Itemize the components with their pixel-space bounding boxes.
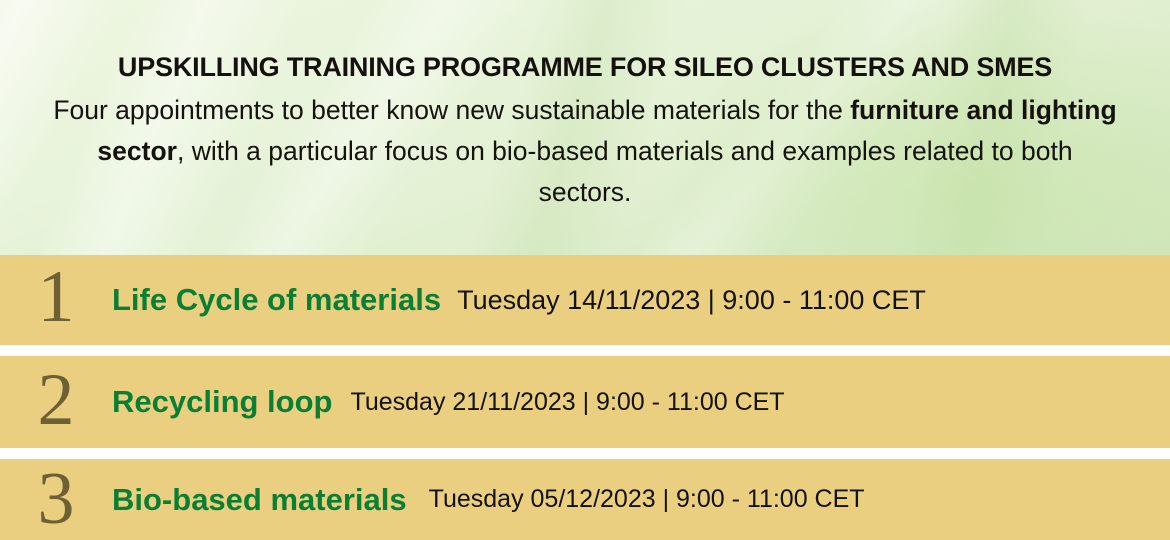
- poster-main-title: MATERIALS & SUSTAINABILITY: [0, 0, 1170, 9]
- poster-description: Four appointments to better know new sus…: [50, 90, 1120, 213]
- session-datetime: Tuesday 21/11/2023 | 9:00 - 11:00 CET: [350, 388, 784, 417]
- session-row[interactable]: 1 Life Cycle of materials Tuesday 14/11/…: [0, 255, 1170, 345]
- session-topic: Recycling loop: [112, 384, 332, 420]
- description-part-1: Four appointments to better know new sus…: [53, 95, 850, 125]
- session-datetime: Tuesday 05/12/2023 | 9:00 - 11:00 CET: [429, 485, 865, 514]
- band-divider: [0, 345, 1170, 356]
- poster-subtitle: UPSKILLING TRAINING PROGRAMME FOR SILEO …: [0, 52, 1170, 83]
- session-datetime: Tuesday 14/11/2023 | 9:00 - 11:00 CET: [457, 285, 926, 316]
- poster-canvas: MATERIALS & SUSTAINABILITY UPSKILLING TR…: [0, 0, 1170, 540]
- session-number: 1: [0, 260, 112, 340]
- description-part-2: , with a particular focus on bio-based m…: [177, 136, 1073, 207]
- session-topic: Bio-based materials: [112, 482, 407, 518]
- session-number: 3: [0, 462, 112, 538]
- session-row[interactable]: 2 Recycling loop Tuesday 21/11/2023 | 9:…: [0, 356, 1170, 448]
- session-number: 2: [0, 363, 112, 441]
- hero-section: MATERIALS & SUSTAINABILITY UPSKILLING TR…: [0, 0, 1170, 255]
- session-row[interactable]: 3 Bio-based materials Tuesday 05/12/2023…: [0, 459, 1170, 540]
- session-topic: Life Cycle of materials: [112, 282, 441, 318]
- band-divider: [0, 448, 1170, 459]
